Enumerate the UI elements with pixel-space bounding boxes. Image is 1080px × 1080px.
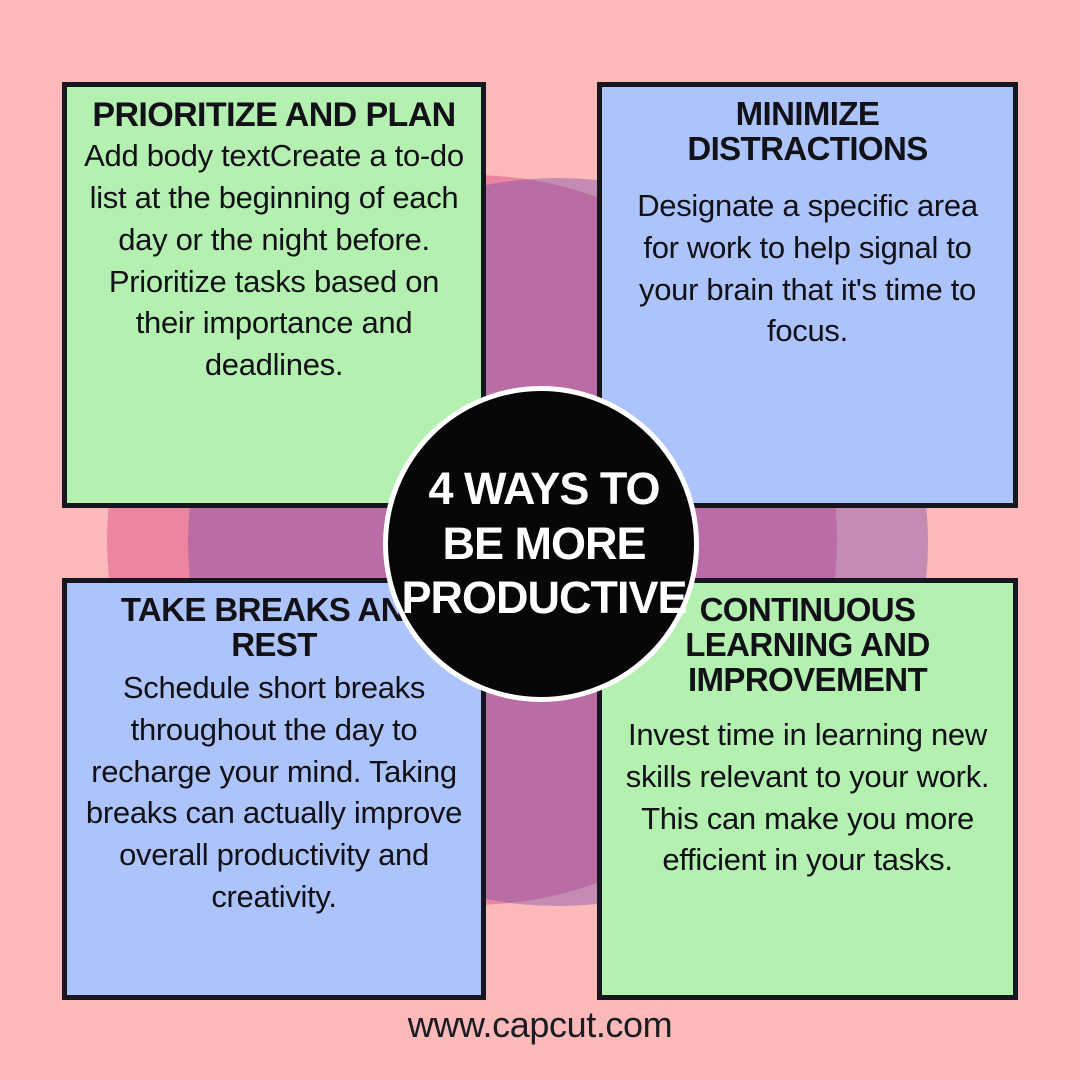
card-body: Invest time in learning new skills relev… — [618, 714, 997, 881]
badge-title: 4 WAYS TO BE MORE PRODUCTIVE — [394, 462, 694, 627]
badge-line-2: BE MORE — [394, 517, 694, 572]
card-body: Designate a specific area for work to he… — [618, 185, 997, 352]
card-title: MINIMIZE DISTRACTIONS — [618, 97, 997, 167]
badge-line-1: 4 WAYS TO — [394, 462, 694, 517]
card-body: Schedule short breaks throughout the day… — [83, 667, 465, 918]
footer-website: www.capcut.com — [0, 1004, 1080, 1046]
card-title: PRIORITIZE AND PLAN — [83, 97, 465, 133]
badge-line-3: PRODUCTIVE — [394, 571, 694, 626]
card-body: Add body textCreate a to-do list at the … — [83, 135, 465, 386]
center-badge: 4 WAYS TO BE MORE PRODUCTIVE — [383, 386, 699, 702]
infographic-canvas: PRIORITIZE AND PLAN Add body textCreate … — [0, 0, 1080, 1080]
